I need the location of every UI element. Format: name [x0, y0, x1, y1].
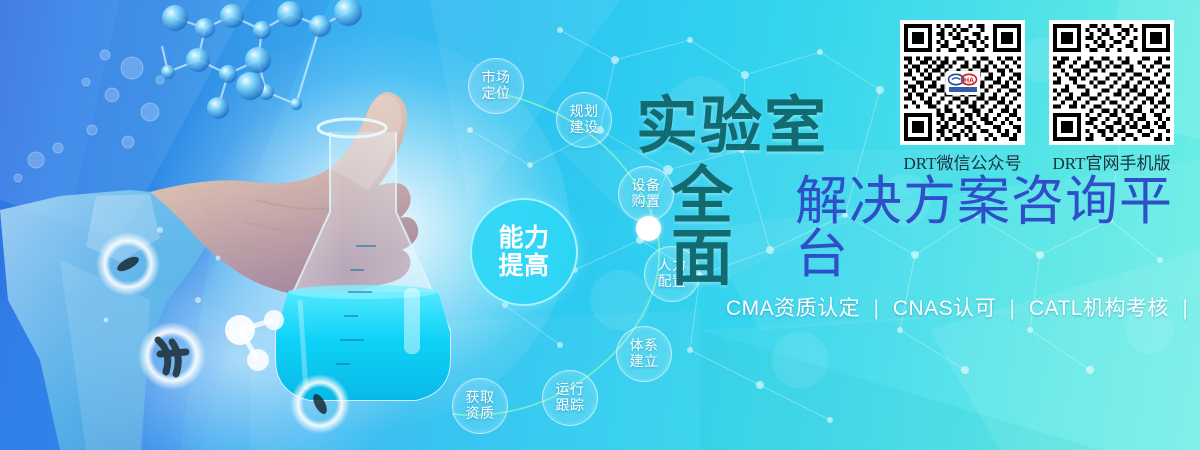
cert-separator: |: [874, 297, 880, 320]
node-label-top: 体系: [630, 338, 659, 354]
node-label-top: 运行: [556, 382, 585, 398]
cert-separator: |: [1182, 297, 1188, 320]
qr-item-mobile-site[interactable]: DRT官网手机版: [1049, 20, 1174, 174]
process-node-planning-construction[interactable]: 规划 建设: [556, 92, 612, 148]
node-label-bottom: 定位: [482, 86, 511, 102]
cert-item: CNAS认可: [893, 297, 996, 320]
node-label-bottom: 提高: [498, 252, 549, 280]
cert-item: CATL机构考核: [1029, 297, 1169, 320]
cert-separator: |: [1010, 297, 1016, 320]
process-node-operation-tracking[interactable]: 运行 跟踪: [542, 370, 598, 426]
qr-code-mobile-image[interactable]: [1049, 20, 1174, 145]
qr-code-group: HA DRT微信公众号: [900, 20, 1174, 174]
bullet-dot-icon: [636, 216, 661, 241]
headline-line2-rest: 解决方案咨询平台: [795, 175, 1200, 281]
node-label-top: 获取: [466, 390, 495, 406]
node-label-bottom: 建设: [570, 120, 599, 136]
node-label-top: 规划: [570, 104, 599, 120]
company-logo-icon: HA: [946, 71, 980, 95]
process-node-market-positioning[interactable]: 市场 定位: [468, 58, 524, 114]
headline-line2-strong: 全面: [671, 166, 791, 290]
node-label-top: 能力: [498, 224, 549, 252]
qr-item-wechat[interactable]: HA DRT微信公众号: [900, 20, 1025, 174]
qr-matrix: [1053, 24, 1170, 141]
node-label-bottom: 建立: [630, 354, 659, 370]
qr-caption-wechat: DRT微信公众号: [904, 149, 1022, 174]
process-node-capability-improvement[interactable]: 能力 提高: [470, 198, 578, 306]
qr-code-wechat-image[interactable]: HA: [900, 20, 1025, 145]
logo-mark: HA: [947, 72, 979, 94]
cert-item: CMA资质认定: [726, 297, 860, 320]
node-label-bottom: 跟踪: [556, 398, 585, 414]
qr-caption-mobile-site: DRT官网手机版: [1053, 149, 1171, 174]
process-node-system-establishment[interactable]: 体系 建立: [616, 326, 672, 382]
svg-text:HA: HA: [963, 77, 973, 84]
promo-banner: 市场 定位 规划 建设 设备 购置 人力 配置 体系 建立 运行 跟踪 获取 资…: [0, 0, 1200, 450]
process-node-obtain-qualification[interactable]: 获取 资质: [452, 378, 508, 434]
node-label-bottom: 资质: [466, 406, 495, 422]
node-label-top: 市场: [482, 70, 511, 86]
certification-list: CMA资质认定 | CNAS认可 | CATL机构考核 | GCP认证 | 6S…: [726, 292, 1200, 322]
headline-line2: 全面 解决方案咨询平台: [636, 166, 1200, 290]
